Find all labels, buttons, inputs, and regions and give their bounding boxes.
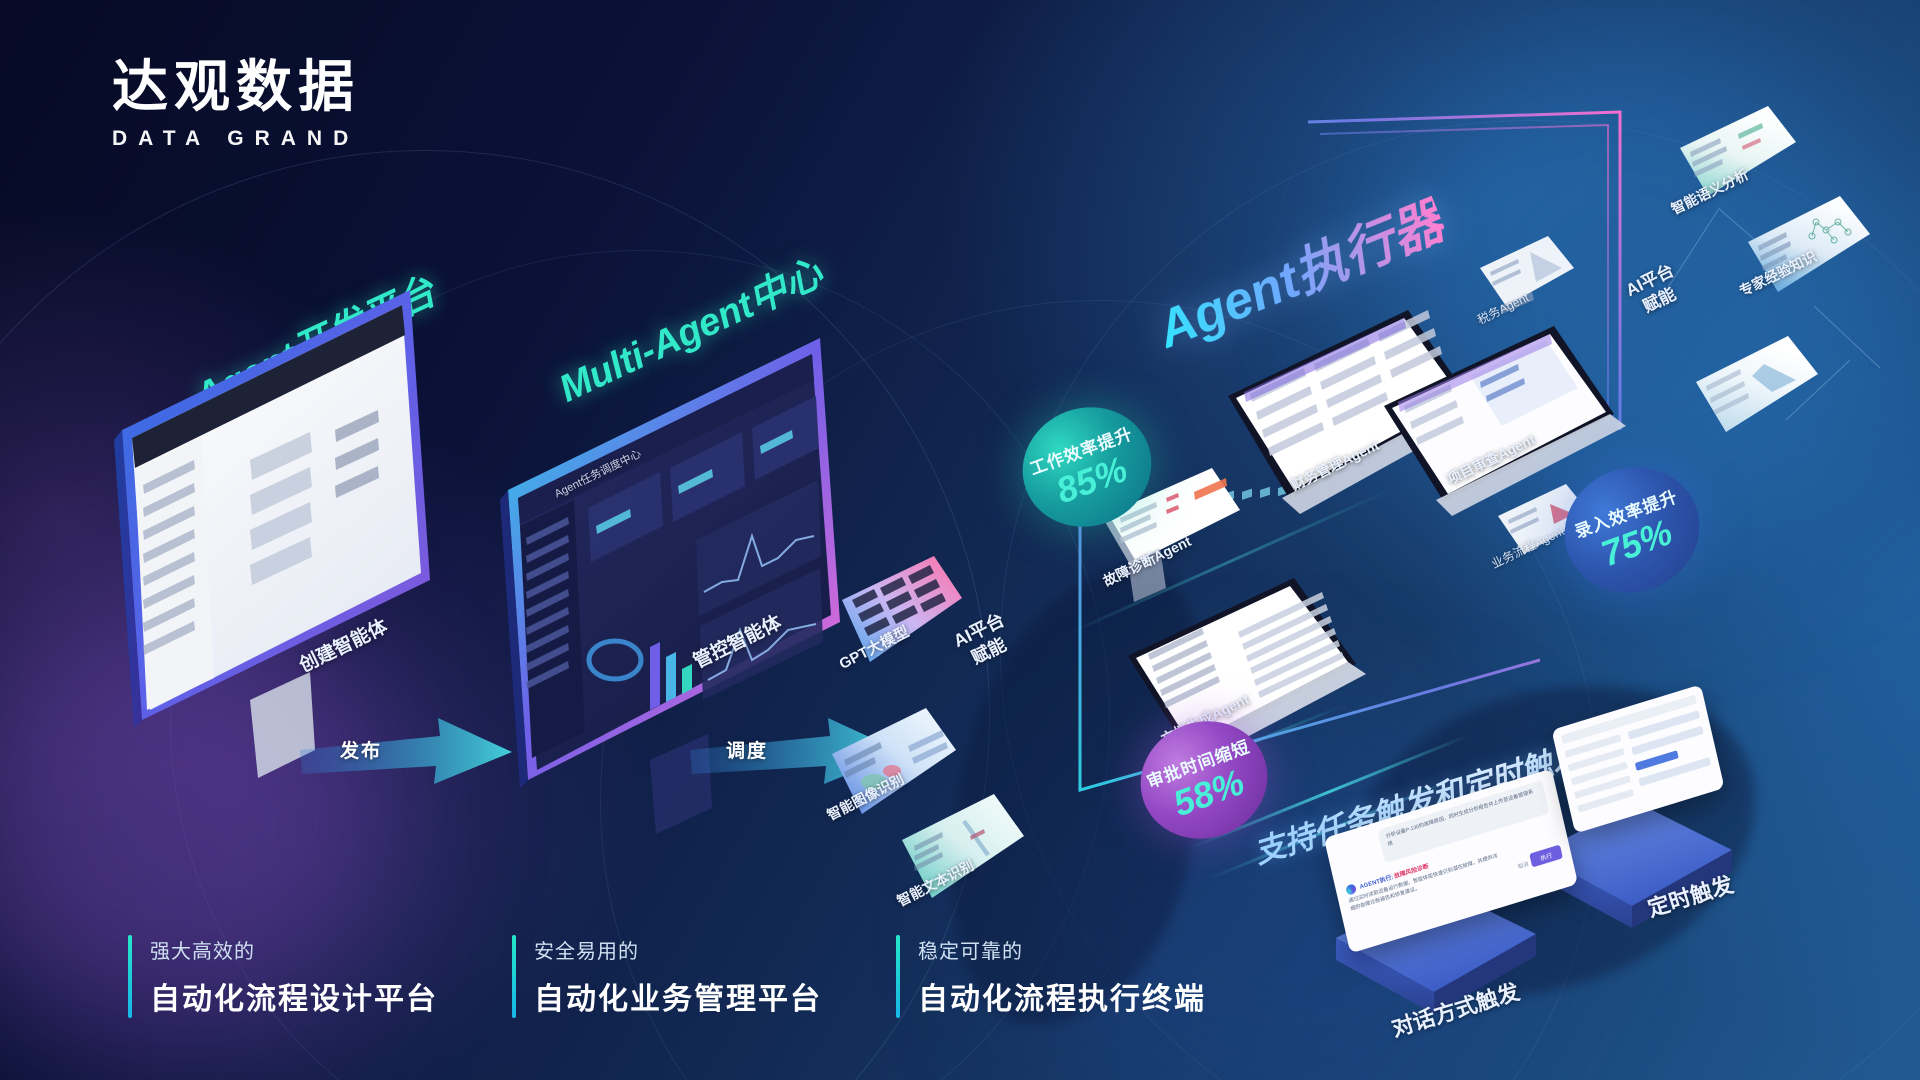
caption-sub-1: 强大高效的: [150, 935, 438, 964]
flow-arrow-publish: [300, 712, 530, 802]
caption-bar-2: [512, 935, 516, 1018]
right-connector-lines: [1600, 110, 1920, 510]
caption-main-2: 自动化业务管理平台: [534, 974, 822, 1018]
caption-main-1: 自动化流程设计平台: [150, 974, 438, 1018]
screen-tax-agent: [1474, 230, 1594, 340]
flow-label-schedule: 调度: [726, 736, 768, 763]
caption-sub-2: 安全易用的: [534, 935, 822, 964]
infographic-stage: 达观数据 DATA GRAND Agent开发平台 Multi-Agent中心 …: [0, 0, 1920, 1080]
chat-primary-button[interactable]: 执行: [1529, 844, 1563, 867]
brand-logo: 达观数据 DATA GRAND: [112, 58, 360, 151]
caption-bar-3: [896, 935, 900, 1018]
bottom-captions: 强大高效的 自动化流程设计平台 安全易用的 自动化业务管理平台 稳定可靠的 自动…: [128, 935, 1206, 1018]
caption-sub-3: 稳定可靠的: [918, 935, 1206, 964]
brand-name-en: DATA GRAND: [112, 127, 360, 151]
agent-avatar-icon: [1345, 883, 1357, 896]
caption-item-3: 稳定可靠的 自动化流程执行终端: [896, 935, 1206, 1018]
schedule-card-right-col: [1628, 710, 1715, 802]
caption-main-3: 自动化流程执行终端: [918, 974, 1206, 1018]
caption-bar-1: [128, 935, 132, 1018]
caption-item-2: 安全易用的 自动化业务管理平台: [512, 935, 822, 1018]
schedule-card-left-col: [1565, 734, 1637, 821]
flow-label-publish: 发布: [340, 736, 382, 763]
chat-secondary-button[interactable]: 取消: [1517, 860, 1529, 871]
caption-item-1: 强大高效的 自动化流程设计平台: [128, 935, 438, 1018]
brand-name-cn: 达观数据: [112, 58, 360, 117]
